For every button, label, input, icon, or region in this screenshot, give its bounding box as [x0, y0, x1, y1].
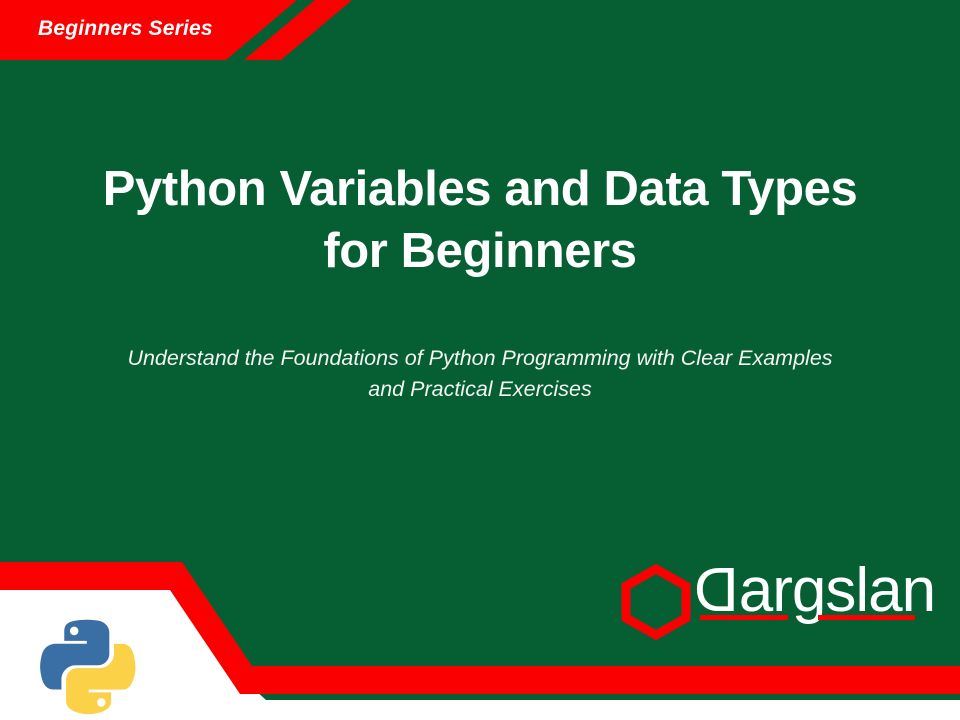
title-line-2: for Beginners: [0, 220, 960, 282]
slide-root: Beginners Series Python Variables and Da…: [0, 0, 960, 720]
page-title: Python Variables and Data Types for Begi…: [0, 158, 960, 282]
brand-underline-right: [818, 615, 915, 620]
subtitle-line-1: Understand the Foundations of Python Pro…: [50, 343, 910, 374]
page-subtitle: Understand the Foundations of Python Pro…: [50, 343, 910, 405]
brand-logo: Dargslan: [620, 558, 930, 640]
hexagon-outline-icon: [620, 564, 692, 640]
title-line-1: Python Variables and Data Types: [0, 158, 960, 220]
python-logo-icon: [34, 612, 140, 718]
subtitle-line-2: and Practical Exercises: [50, 374, 910, 405]
brand-underline-left: [700, 615, 788, 620]
series-badge-label: Beginners Series: [38, 17, 213, 41]
